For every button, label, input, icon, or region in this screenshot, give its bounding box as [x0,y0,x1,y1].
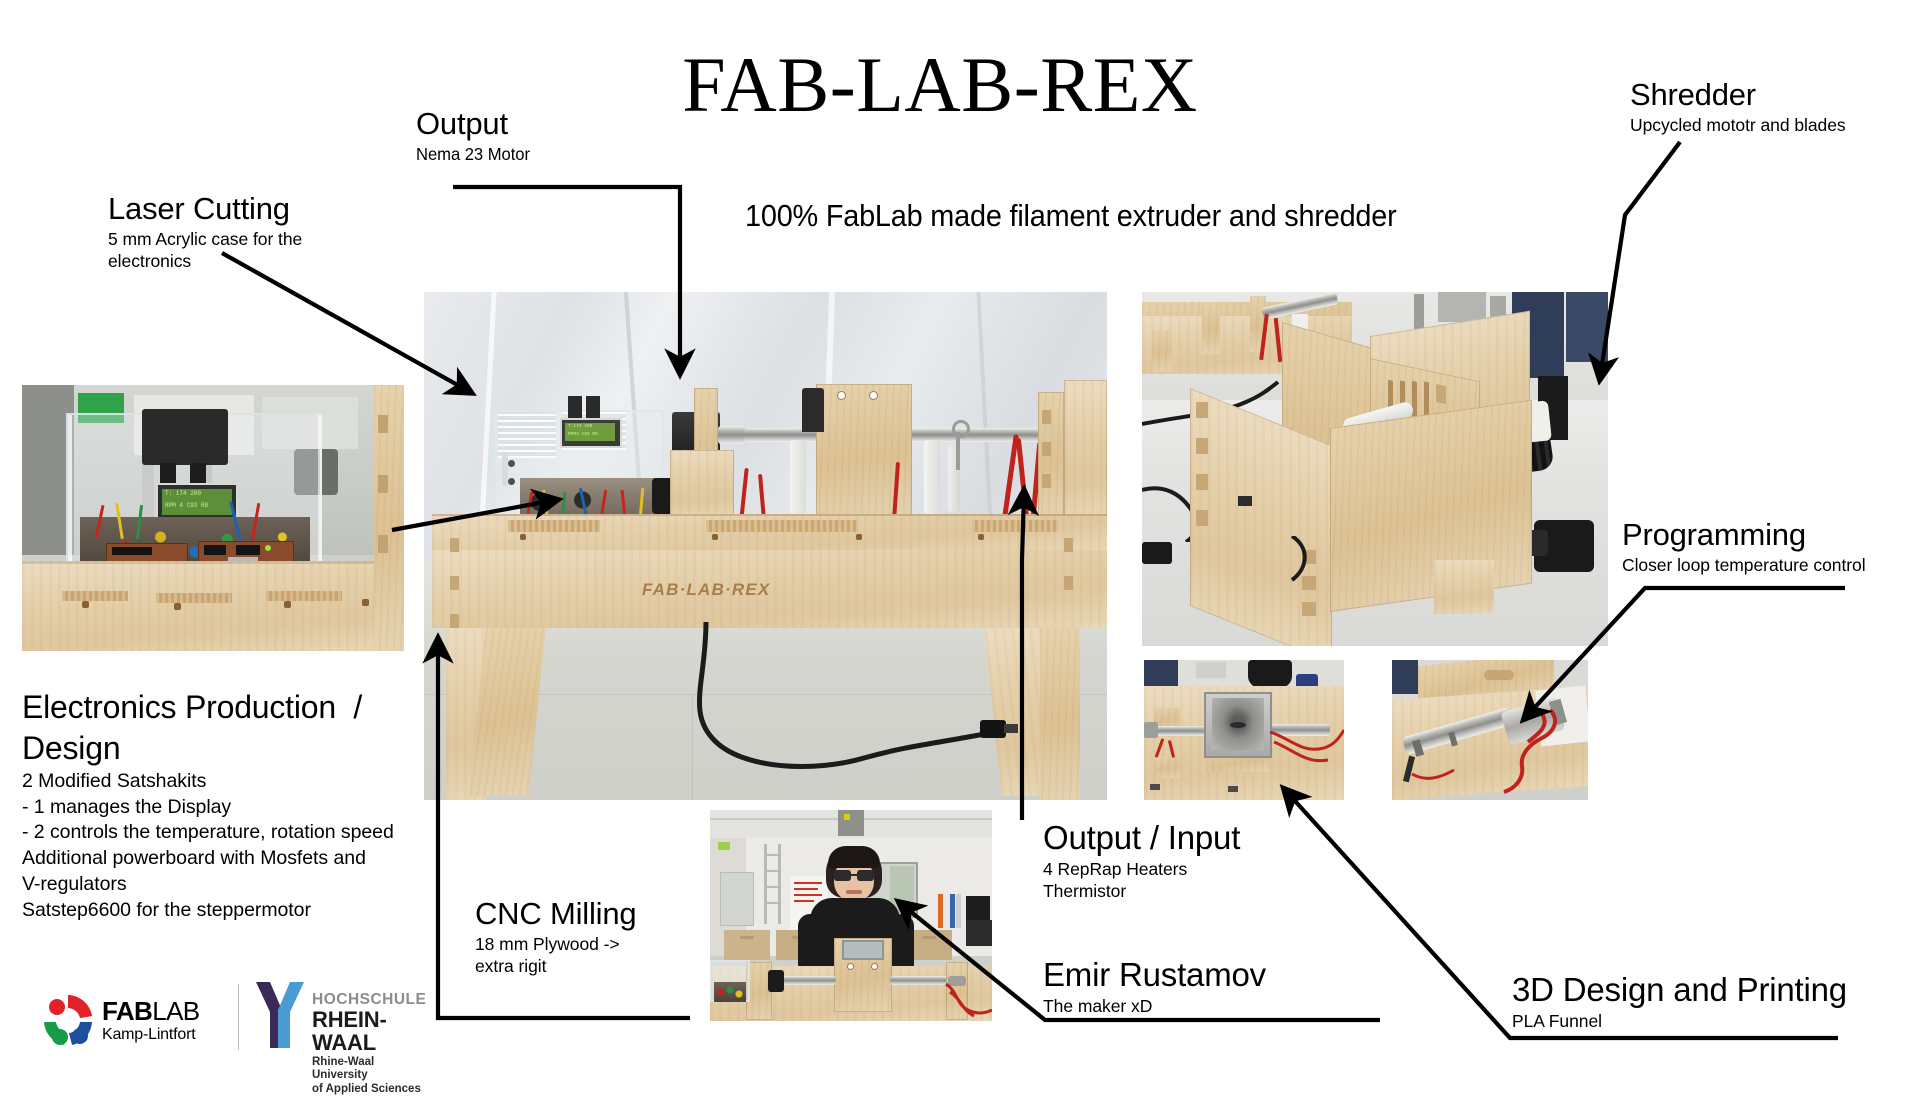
hochschule-line-2: RHEIN-WAAL [312,1008,426,1054]
callout-title: 3D Design and Printing [1512,972,1847,1009]
callout-title: CNC Milling [475,897,636,932]
callout-title: Electronics Production / Design [22,687,394,769]
callout-title: Output / Input [1043,820,1240,857]
callout-title: Programming [1622,518,1866,553]
lcd-display: T: 174 200 RPM 4 C93 R8 [156,483,238,521]
lcd-line-1: T: 174 200 [165,490,201,497]
lcd-line-2: RPM 4 C93 R8 [165,502,208,509]
callout-electronics: Electronics Production / Design 2 Modifi… [22,687,394,923]
callout-subtitle: Closer loop temperature control [1622,554,1866,576]
shredder-photo [1142,292,1608,646]
heater-photo [1392,660,1588,800]
leader-shredder [1600,142,1680,378]
callout-output-input: Output / Input 4 RepRap Heaters Thermist… [1043,820,1240,903]
fablab-name-bold: FAB [102,996,152,1026]
callout-output-motor: Output Nema 23 Motor [416,107,536,165]
callout-subtitle: The maker xD [1043,995,1266,1017]
callout-title: Laser Cutting [108,192,302,227]
hochschule-logo-text: HOCHSCHULE RHEIN-WAAL Rhine-Waal Univers… [312,992,426,1096]
callout-subtitle: PLA Funnel [1512,1010,1847,1032]
logo-row: FABLAB Kamp-Lintfort HOCHSCHULE RHEIN-WA… [40,980,370,1060]
page-title: FAB-LAB-REX [590,48,1290,122]
logo-divider [238,984,239,1050]
fablab-logo-text: FABLAB Kamp-Lintfort [102,998,200,1044]
callout-subtitle: Nema 23 Motor [416,143,530,165]
fablab-logo-icon [40,992,96,1048]
callout-subtitle: 18 mm Plywood -> extra rigit [475,933,636,978]
poster-subtitle: 100% FabLab made filament extruder and s… [745,198,1397,234]
callout-laser-cutting: Laser Cutting 5 mm Acrylic case for the … [108,192,302,273]
callout-programming: Programming Closer loop temperature cont… [1622,518,1866,576]
callout-subtitle: 2 Modified Satshakits - 1 manages the Di… [22,769,394,923]
machine-engraving: FAB·LAB·REX [642,580,770,600]
fablab-location: Kamp-Lintfort [102,1026,200,1044]
callout-title: Emir Rustamov [1043,957,1266,994]
callout-emir-rustamov: Emir Rustamov The maker xD [1043,957,1266,1017]
hochschule-line-3: Rhine-Waal University of Applied Science… [312,1056,426,1096]
callout-3d-design: 3D Design and Printing PLA Funnel [1512,972,1847,1032]
fablab-name-thin: LAB [152,996,199,1026]
callout-subtitle: 5 mm Acrylic case for the electronics [108,228,302,273]
machine-photo: T:174 200 RPM4 C93 R8 [424,292,1107,800]
callout-title: Shredder [1630,78,1846,113]
callout-shredder: Shredder Upcycled mototr and blades [1630,78,1846,136]
callout-subtitle: Upcycled mototr and blades [1630,114,1846,136]
electronics-photo: T: 174 200 RPM 4 C93 R8 [22,385,404,651]
funnel-photo [1144,660,1344,800]
hochschule-line-1: HOCHSCHULE [312,992,426,1008]
maker-photo [710,810,992,1021]
hochschule-logo-icon [252,980,308,1050]
callout-subtitle: 4 RepRap Heaters Thermistor [1043,858,1240,903]
callout-title: Output [416,107,536,142]
callout-cnc-milling: CNC Milling 18 mm Plywood -> extra rigit [475,897,636,978]
